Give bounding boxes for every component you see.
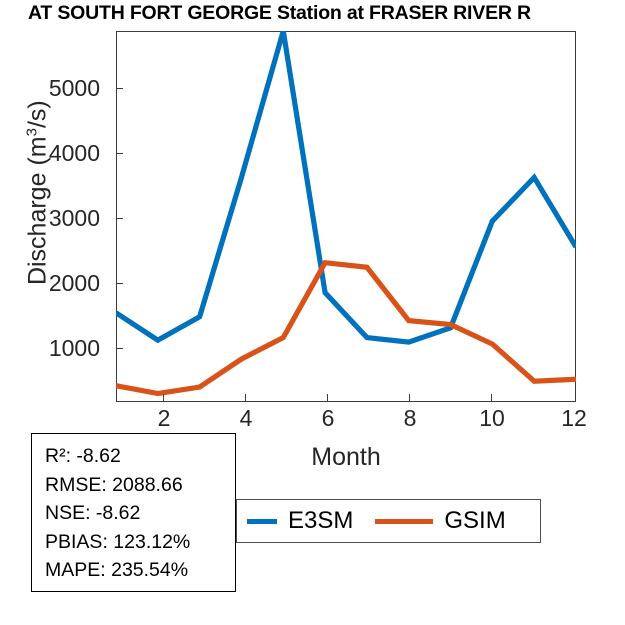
series-line-gsim — [116, 263, 576, 394]
legend-label-e3sm: E3SM — [288, 507, 353, 535]
legend-item-gsim[interactable]: GSIM — [375, 507, 505, 535]
x-tick-label: 10 — [462, 405, 522, 432]
chart-title: AT SOUTH FORT GEORGE Station at FRASER R… — [28, 2, 625, 25]
y-tick-mark — [116, 153, 123, 154]
y-axis-label-exponent: 3 — [23, 128, 40, 136]
stat-line-rmse: RMSE: 2088.66 — [45, 471, 235, 500]
x-tick-mark — [245, 394, 246, 401]
legend-label-gsim: GSIM — [444, 507, 505, 535]
legend-line-swatch-gsim — [375, 519, 433, 524]
stat-line-mape: MAPE: 235.54% — [45, 556, 235, 585]
chart-figure: AT SOUTH FORT GEORGE Station at FRASER R… — [0, 0, 625, 625]
x-tick-mark — [409, 394, 410, 401]
y-axis-label-prefix: Discharge (m — [24, 136, 52, 285]
y-tick-label: 5000 — [8, 75, 100, 102]
x-tick-mark — [327, 394, 328, 401]
y-tick-label: 1000 — [8, 335, 100, 362]
y-tick-mark — [116, 348, 123, 349]
legend-line-swatch-e3sm — [247, 519, 277, 524]
legend[interactable]: E3SM GSIM — [236, 499, 541, 543]
x-tick-mark — [491, 394, 492, 401]
series-line-e3sm — [116, 31, 576, 342]
stat-line-pbias: PBIAS: 123.12% — [45, 528, 235, 557]
y-axis-label: Discharge (m3/s) — [23, 33, 52, 353]
y-tick-mark — [116, 88, 123, 89]
x-tick-label: 12 — [544, 405, 604, 432]
y-tick-label: 3000 — [8, 205, 100, 232]
plot-lines — [116, 31, 576, 402]
x-tick-label: 8 — [380, 405, 440, 432]
x-tick-label: 2 — [134, 405, 194, 432]
y-tick-label: 2000 — [8, 270, 100, 297]
legend-item-e3sm[interactable]: E3SM — [247, 507, 353, 535]
x-tick-mark — [163, 394, 164, 401]
stat-line-nse: NSE: -8.62 — [45, 499, 235, 528]
y-axis-label-suffix: /s) — [24, 100, 52, 128]
y-tick-mark — [116, 283, 123, 284]
x-tick-label: 6 — [298, 405, 358, 432]
statistics-textbox: R²: -8.62 RMSE: 2088.66 NSE: -8.62 PBIAS… — [31, 433, 236, 592]
stat-line-r2: R²: -8.62 — [45, 442, 235, 471]
x-tick-label: 4 — [216, 405, 276, 432]
y-tick-label: 4000 — [8, 140, 100, 167]
y-tick-mark — [116, 218, 123, 219]
